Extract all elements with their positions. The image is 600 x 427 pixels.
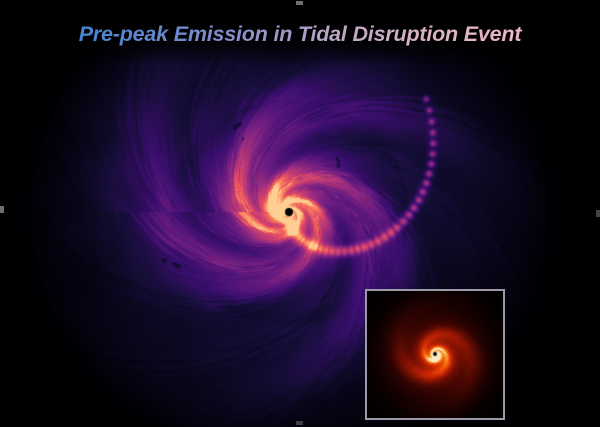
registration-mark-left-icon (0, 206, 4, 213)
figure-root: Pre-peak Emission in Tidal Disruption Ev… (0, 0, 600, 427)
inset-panel (365, 289, 505, 420)
page-title: Pre-peak Emission in Tidal Disruption Ev… (0, 22, 600, 47)
registration-mark-bottom-icon (296, 421, 303, 425)
tidal-disruption-simulation-image (0, 0, 600, 427)
registration-mark-top-icon (296, 1, 303, 5)
inner-disk-zoom-image (367, 291, 503, 418)
registration-mark-right-icon (596, 210, 600, 217)
